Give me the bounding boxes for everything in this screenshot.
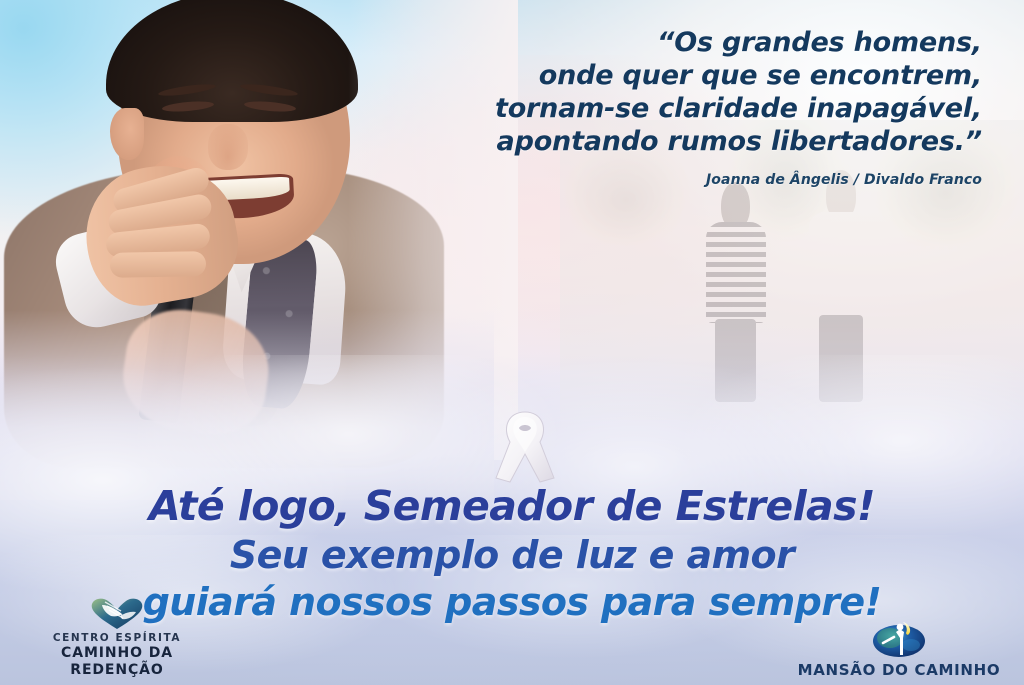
logo-right-line-1: MANSÃO DO CAMINHO	[784, 661, 1014, 679]
hair	[106, 0, 358, 122]
logo-left-line-2: CAMINHO DA REDENÇÃO	[14, 645, 220, 679]
quote-block: “Os grandes homens, onde quer que se enc…	[422, 26, 982, 188]
globe-figure-flame-icon	[870, 619, 928, 659]
nose	[208, 124, 248, 170]
headline-line-1: Até logo, Semeador de Estrelas!	[0, 486, 1024, 527]
quote-line-1: “Os grandes homens,	[422, 26, 982, 59]
heart-hands-icon	[89, 596, 145, 630]
quote-line-2: onde quer que se encontrem,	[422, 59, 982, 92]
logo-centro-espirita: CENTRO ESPÍRITA CAMINHO DA REDENÇÃO	[14, 596, 220, 679]
finger	[110, 251, 206, 278]
white-ribbon-icon	[486, 404, 564, 490]
quote-line-3: tornam-se claridade inapagável,	[422, 92, 982, 125]
quote-attribution: Joanna de Ângelis / Divaldo Franco	[422, 172, 982, 188]
scene-fence	[917, 246, 1020, 294]
ear	[110, 108, 144, 160]
scene-person-torso	[706, 222, 766, 323]
quote-line-4: apontando rumos libertadores.”	[422, 125, 982, 158]
logo-mansao-do-caminho: MANSÃO DO CAMINHO	[784, 619, 1014, 679]
white-ribbon-wrapper	[486, 404, 564, 490]
scene-person-torso	[809, 212, 873, 318]
headline-line-2: Seu exemplo de luz e amor	[0, 536, 1024, 574]
memorial-poster: “Os grandes homens, onde quer que se enc…	[0, 0, 1024, 685]
logo-left-line-1: CENTRO ESPÍRITA	[14, 632, 220, 645]
